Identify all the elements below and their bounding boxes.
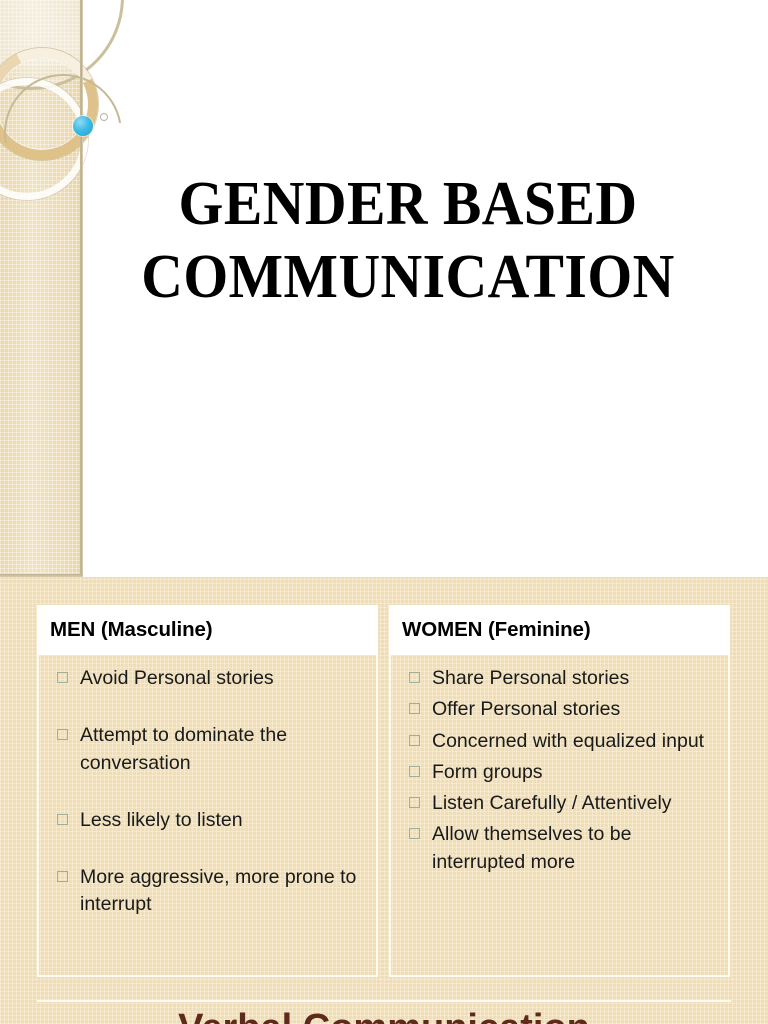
presentation-page: GENDER BASED COMMUNICATION MEN (Masculin… (0, 0, 768, 1024)
table-column-men: MEN (Masculine) Avoid Personal stories A… (37, 605, 378, 977)
table-column-women: WOMEN (Feminine) Share Personal stories … (389, 605, 730, 977)
column-header-women: WOMEN (Feminine) (389, 605, 730, 655)
square-bullet-icon (57, 729, 68, 740)
square-bullet-icon (409, 735, 420, 746)
slide-title: GENDER BASED COMMUNICATION (0, 0, 768, 577)
table-bottom-rule (37, 1000, 731, 1002)
list-item-label: Form groups (432, 759, 722, 786)
list-item: Listen Carefully / Attentively (397, 790, 722, 817)
next-slide-heading: Verbal Communication (0, 1008, 768, 1024)
square-bullet-icon (409, 797, 420, 808)
list-item-label: Less likely to listen (80, 807, 370, 834)
list-item: Avoid Personal stories (45, 665, 370, 692)
list-item-label: Concerned with equalized input (432, 728, 722, 755)
square-bullet-icon (57, 672, 68, 683)
list-item-label: Attempt to dominate the conversation (80, 722, 370, 777)
list-item-label: Offer Personal stories (432, 696, 722, 723)
list-item: Concerned with equalized input (397, 728, 722, 755)
list-item: Less likely to listen (45, 807, 370, 834)
square-bullet-icon (409, 672, 420, 683)
column-body-women: Share Personal stories Offer Personal st… (389, 655, 730, 977)
list-item-label: Listen Carefully / Attentively (432, 790, 722, 817)
small-circle-outline-icon (100, 113, 108, 121)
square-bullet-icon (57, 871, 68, 882)
slide-comparison-table: MEN (Masculine) Avoid Personal stories A… (0, 577, 768, 1024)
square-bullet-icon (409, 766, 420, 777)
list-item: More aggressive, more prone to interrupt (45, 864, 370, 919)
cyan-dot-icon (73, 116, 93, 136)
bullet-list-men: Avoid Personal stories Attempt to domina… (45, 665, 370, 919)
page-title: GENDER BASED COMMUNICATION (110, 168, 705, 314)
band-edge-divider (80, 0, 83, 577)
list-item: Offer Personal stories (397, 696, 722, 723)
column-header-men: MEN (Masculine) (37, 605, 378, 655)
list-item: Share Personal stories (397, 665, 722, 692)
square-bullet-icon (409, 828, 420, 839)
list-item-label: Avoid Personal stories (80, 665, 370, 692)
list-item-label: Allow themselves to be interrupted more (432, 821, 722, 876)
list-item: Attempt to dominate the conversation (45, 722, 370, 777)
bullet-list-women: Share Personal stories Offer Personal st… (397, 665, 722, 876)
column-body-men: Avoid Personal stories Attempt to domina… (37, 655, 378, 977)
list-item: Allow themselves to be interrupted more (397, 821, 722, 876)
list-item-label: Share Personal stories (432, 665, 722, 692)
comparison-table: MEN (Masculine) Avoid Personal stories A… (37, 605, 731, 977)
list-item-label: More aggressive, more prone to interrupt (80, 864, 370, 919)
list-item: Form groups (397, 759, 722, 786)
square-bullet-icon (57, 814, 68, 825)
square-bullet-icon (409, 703, 420, 714)
